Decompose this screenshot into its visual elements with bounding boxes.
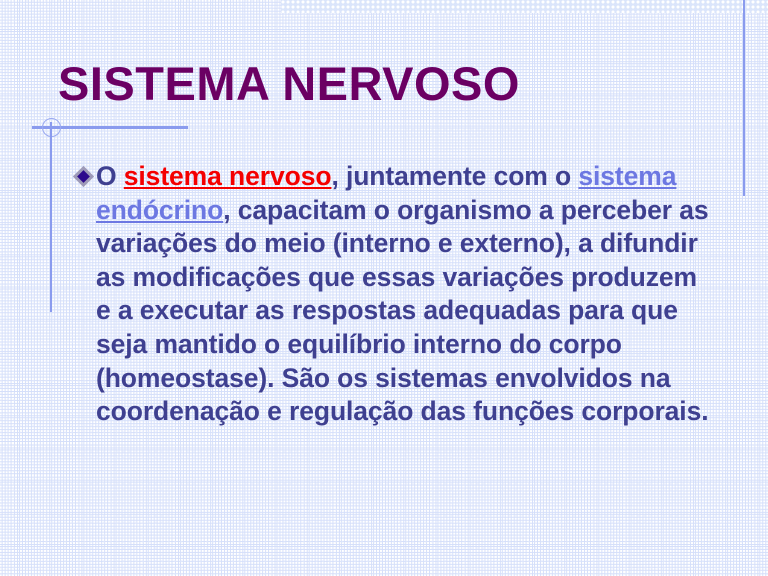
slide-title: SISTEMA NERVOSO xyxy=(58,60,520,107)
body-paragraph: O sistema nervoso, juntamente com o sist… xyxy=(96,160,714,429)
diamond-bullet-icon xyxy=(74,167,96,189)
bullet-paragraph-row: O sistema nervoso, juntamente com o sist… xyxy=(74,160,714,429)
right-vertical-accent-line xyxy=(743,0,745,196)
presentation-slide: SISTEMA NERVOSO O sistema nervoso, junta… xyxy=(0,0,768,576)
text-lead: O xyxy=(96,161,124,191)
top-decorative-band xyxy=(281,0,768,13)
text-rest: , capacitam o organismo a perceber as va… xyxy=(96,195,709,427)
term-sistema-nervoso: sistema nervoso xyxy=(124,161,332,191)
left-vertical-accent-line xyxy=(50,122,52,312)
text-mid: , juntamente com o xyxy=(331,161,578,191)
